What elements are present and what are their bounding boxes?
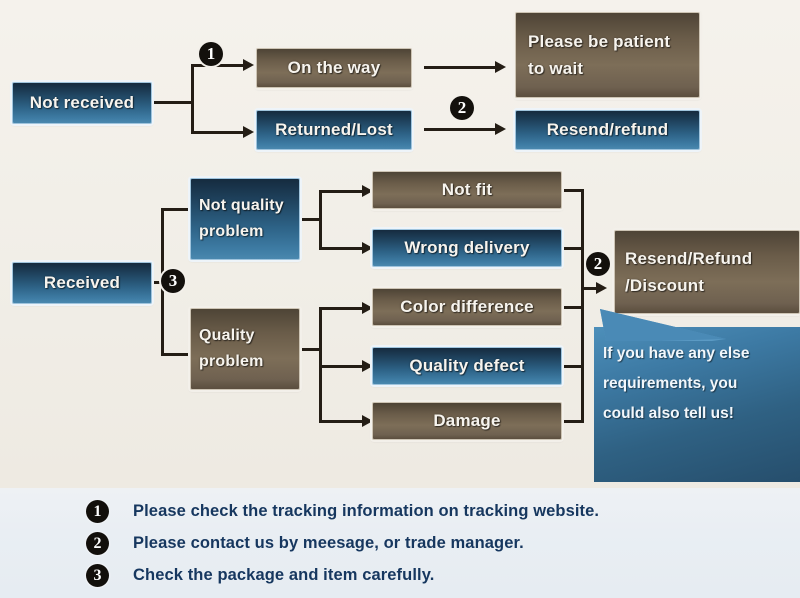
connector-to-returned-lost	[191, 131, 246, 134]
node-not-quality-problem[interactable]: Not quality problem	[190, 178, 300, 260]
node-damage-label: Damage	[373, 409, 561, 434]
node-resend-refund[interactable]: Resend/refund	[515, 110, 700, 150]
speech-bubble-line2: requirements, you	[603, 369, 791, 399]
arrow-to-resend-refund-discount	[596, 282, 607, 294]
node-quality-defect[interactable]: Quality defect	[372, 347, 562, 385]
legend-badge-one: 1	[86, 500, 109, 523]
node-not-fit[interactable]: Not fit	[372, 171, 562, 209]
speech-bubble-line1: If you have any else	[603, 339, 791, 369]
connector-returned-to-resend	[424, 128, 498, 131]
arrow-on-the-way-to-patient	[495, 61, 506, 73]
node-on-the-way-label: On the way	[257, 56, 411, 81]
connector-to-color-difference	[319, 307, 365, 310]
node-resend-refund-label: Resend/refund	[516, 118, 699, 143]
node-please-be-patient-line2: to wait	[528, 59, 583, 78]
node-resend-refund-discount-line1: Resend/Refund	[625, 249, 752, 268]
node-please-be-patient-line1: Please be patient	[528, 32, 670, 51]
node-quality-problem-text: Quality problem	[191, 323, 299, 374]
connector-to-quality-defect	[319, 365, 365, 368]
legend-text-three: Check the package and item carefully.	[133, 566, 434, 585]
node-wrong-delivery[interactable]: Wrong delivery	[372, 229, 562, 267]
node-quality-defect-label: Quality defect	[373, 354, 561, 379]
connector-to-wrong-delivery	[319, 247, 365, 250]
node-quality-problem[interactable]: Quality problem	[190, 308, 300, 390]
speech-bubble-tail-icon	[600, 305, 726, 341]
connector-quality-split	[319, 307, 322, 420]
badge-three-check-package[interactable]: 3	[161, 269, 185, 293]
legend-item: 2 Please contact us by meesage, or trade…	[86, 527, 746, 559]
legend-text-one: Please check the tracking information on…	[133, 502, 599, 521]
connector-on-the-way-to-patient	[424, 66, 498, 69]
node-on-the-way[interactable]: On the way	[256, 48, 412, 88]
connector-to-on-the-way	[191, 64, 246, 67]
node-quality-line1: Quality	[199, 327, 255, 344]
connector-to-damage	[319, 420, 365, 423]
node-not-received[interactable]: Not received	[12, 82, 152, 124]
legend-badge-three: 3	[86, 564, 109, 587]
node-color-difference[interactable]: Color difference	[372, 288, 562, 326]
legend-badge-two: 2	[86, 532, 109, 555]
node-received[interactable]: Received	[12, 262, 152, 304]
node-not-quality-problem-text: Not quality problem	[191, 193, 299, 244]
node-returned-lost-label: Returned/Lost	[257, 118, 411, 143]
node-not-fit-label: Not fit	[373, 178, 561, 203]
node-color-difference-label: Color difference	[373, 295, 561, 320]
node-please-be-patient-text: Please be patient to wait	[516, 28, 699, 82]
node-damage[interactable]: Damage	[372, 402, 562, 440]
node-wrong-delivery-label: Wrong delivery	[373, 236, 561, 261]
speech-bubble-extra-requirements[interactable]: If you have any else requirements, you c…	[594, 327, 800, 482]
node-not-quality-line1: Not quality	[199, 197, 284, 214]
connector-not-quality-split	[319, 190, 322, 250]
node-please-be-patient[interactable]: Please be patient to wait	[515, 12, 700, 98]
speech-bubble-line3: could also tell us!	[603, 399, 791, 429]
node-resend-refund-discount-text: Resend/Refund /Discount	[615, 245, 799, 299]
node-not-received-label: Not received	[13, 91, 151, 116]
connector-to-not-fit	[319, 190, 365, 193]
legend-item: 3 Check the package and item carefully.	[86, 559, 746, 591]
node-received-label: Received	[13, 271, 151, 296]
legend-notes: 1 Please check the tracking information …	[86, 495, 746, 591]
badge-two-contact-right[interactable]: 2	[586, 252, 610, 276]
arrow-to-on-the-way	[243, 59, 254, 71]
legend-text-two: Please contact us by meesage, or trade m…	[133, 534, 524, 553]
merge-rail-vertical	[581, 189, 584, 423]
badge-one-tracking[interactable]: 1	[199, 42, 223, 66]
badge-two-contact-top[interactable]: 2	[450, 96, 474, 120]
connector-not-received-split	[191, 64, 194, 134]
node-quality-line2: problem	[199, 353, 264, 370]
flowchart-canvas: Not received 1 On the way Returned/Lost …	[0, 0, 800, 598]
legend-item: 1 Please check the tracking information …	[86, 495, 746, 527]
arrow-returned-to-resend	[495, 123, 506, 135]
node-resend-refund-discount-line2: /Discount	[625, 276, 704, 295]
arrow-to-returned-lost	[243, 126, 254, 138]
connector-not-received-stem	[152, 101, 194, 104]
node-returned-lost[interactable]: Returned/Lost	[256, 110, 412, 150]
node-not-quality-line2: problem	[199, 223, 264, 240]
node-resend-refund-discount[interactable]: Resend/Refund /Discount	[614, 230, 800, 314]
